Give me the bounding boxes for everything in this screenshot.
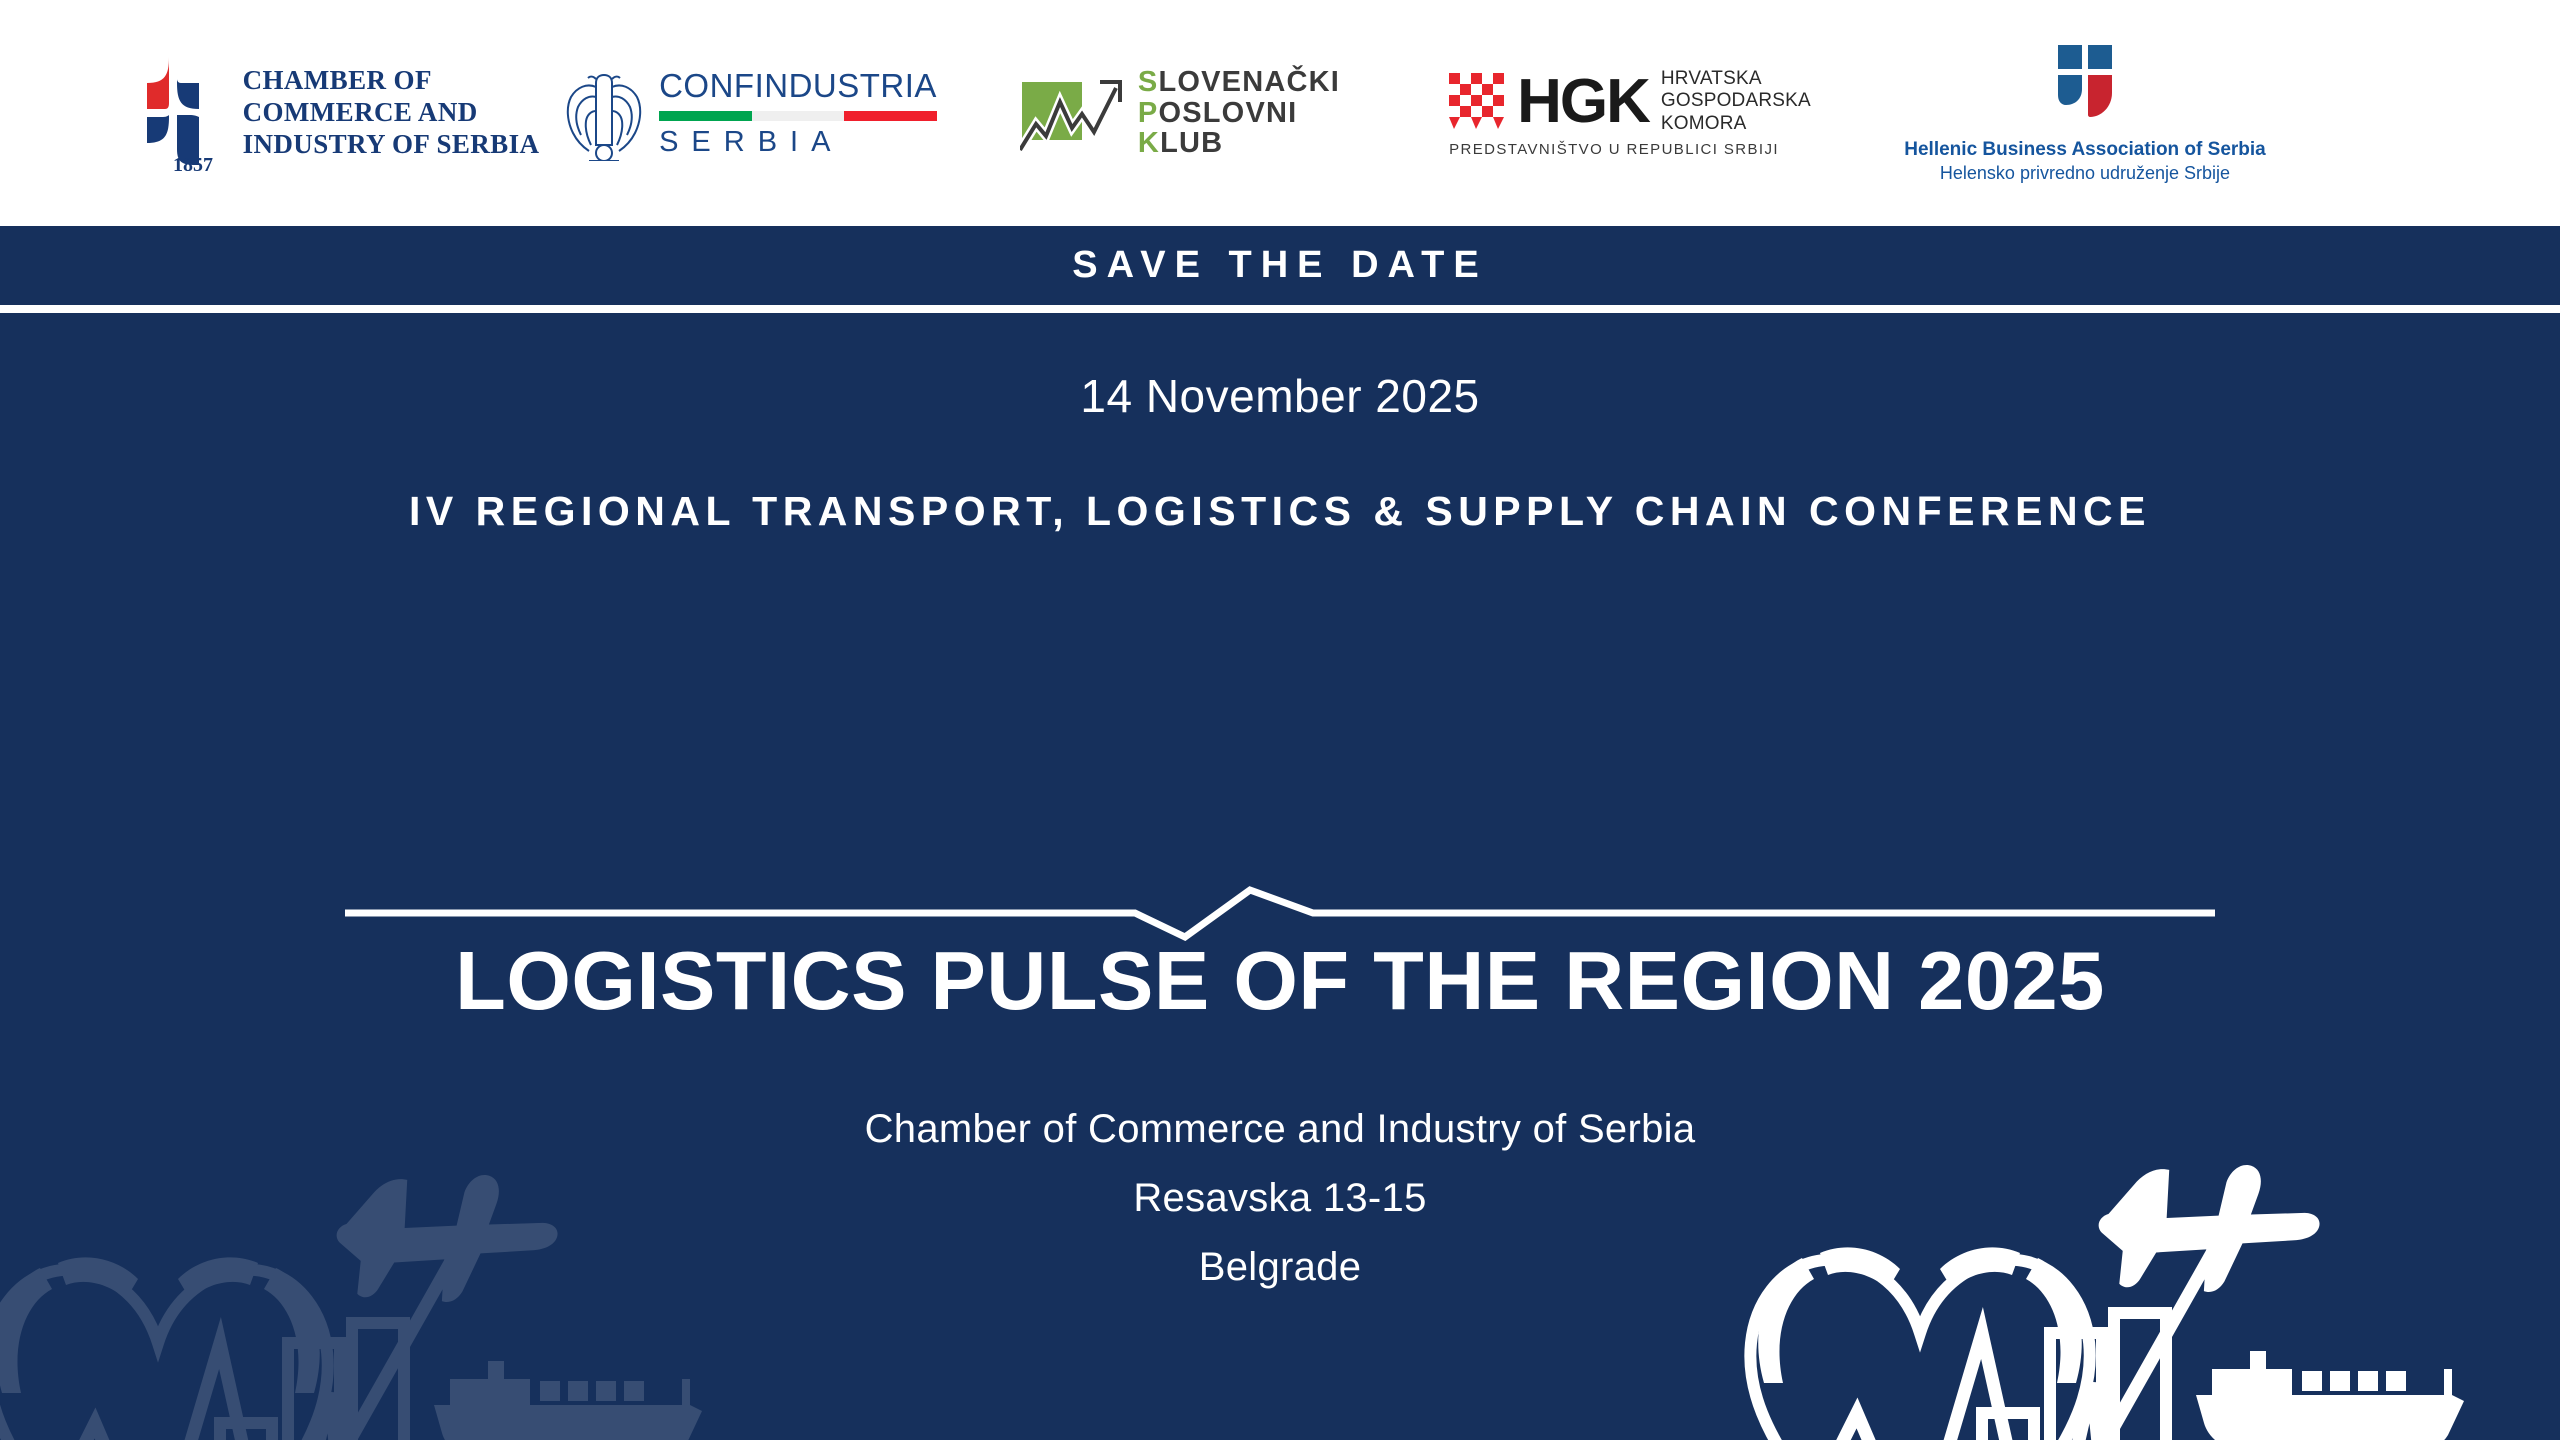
hba-shield-icon [2046,43,2124,129]
svg-text:1857: 1857 [173,154,213,173]
logistics-pulse-emblem [1652,1083,2492,1440]
save-the-date-banner: SAVE THE DATE [0,226,2560,305]
hgk-representation-label: PREDSTAVNIŠTVO U REPUBLICI SRBIJI [1449,141,1779,158]
spk-wordmark: SLOVENAČKI POSLOVNI KLUB [1138,67,1340,159]
italy-flag-bar-icon [659,111,937,121]
logo-hellenic-business-association: Hellenic Business Association of Serbia … [1860,28,2310,198]
confindustria-eagle-icon [563,65,645,161]
hgk-checkerboard-icon [1449,73,1511,131]
hba-title-sr: Helensko privredno udruženje Srbije [1940,163,2230,184]
confindustria-country-label: SERBIA [659,126,937,159]
banner-divider-rule [0,305,2560,313]
conference-headline: LOGISTICS PULSE OF THE REGION 2025 [0,933,2560,1029]
event-date: 14 November 2025 [0,369,2560,423]
pks-cross-logo-icon: 1857 [121,53,225,173]
poster-body: 14 November 2025 IV REGIONAL TRANSPORT, … [0,313,2560,1440]
confindustria-wordmark: CONFINDUSTRIA [659,67,937,105]
spk-mountain-arrow-icon [1020,72,1128,154]
save-the-date-label: SAVE THE DATE [1072,244,1487,287]
logo-confindustria-serbia: CONFINDUSTRIA SERBIA [540,28,960,198]
pks-wordmark: CHAMBER OF COMMERCE AND INDUSTRY OF SERB… [243,65,540,161]
save-the-date-poster: 1857 CHAMBER OF COMMERCE AND INDUSTRY OF… [0,0,2560,1440]
hba-title-en: Hellenic Business Association of Serbia [1904,139,2265,161]
logo-slovenacki-poslovni-klub: SLOVENAČKI POSLOVNI KLUB [960,28,1400,198]
conference-subtitle: IV REGIONAL TRANSPORT, LOGISTICS & SUPPL… [0,488,2560,535]
logo-chamber-of-commerce-serbia: 1857 CHAMBER OF COMMERCE AND INDUSTRY OF… [60,28,540,198]
hgk-letters: HGK [1517,74,1649,130]
logo-hrvatska-gospodarska-komora: HGK HRVATSKA GOSPODARSKA KOMORA PREDSTAV… [1400,28,1860,198]
hgk-fullname: HRVATSKA GOSPODARSKA KOMORA [1661,68,1811,135]
partner-logo-bar: 1857 CHAMBER OF COMMERCE AND INDUSTRY OF… [0,0,2560,226]
